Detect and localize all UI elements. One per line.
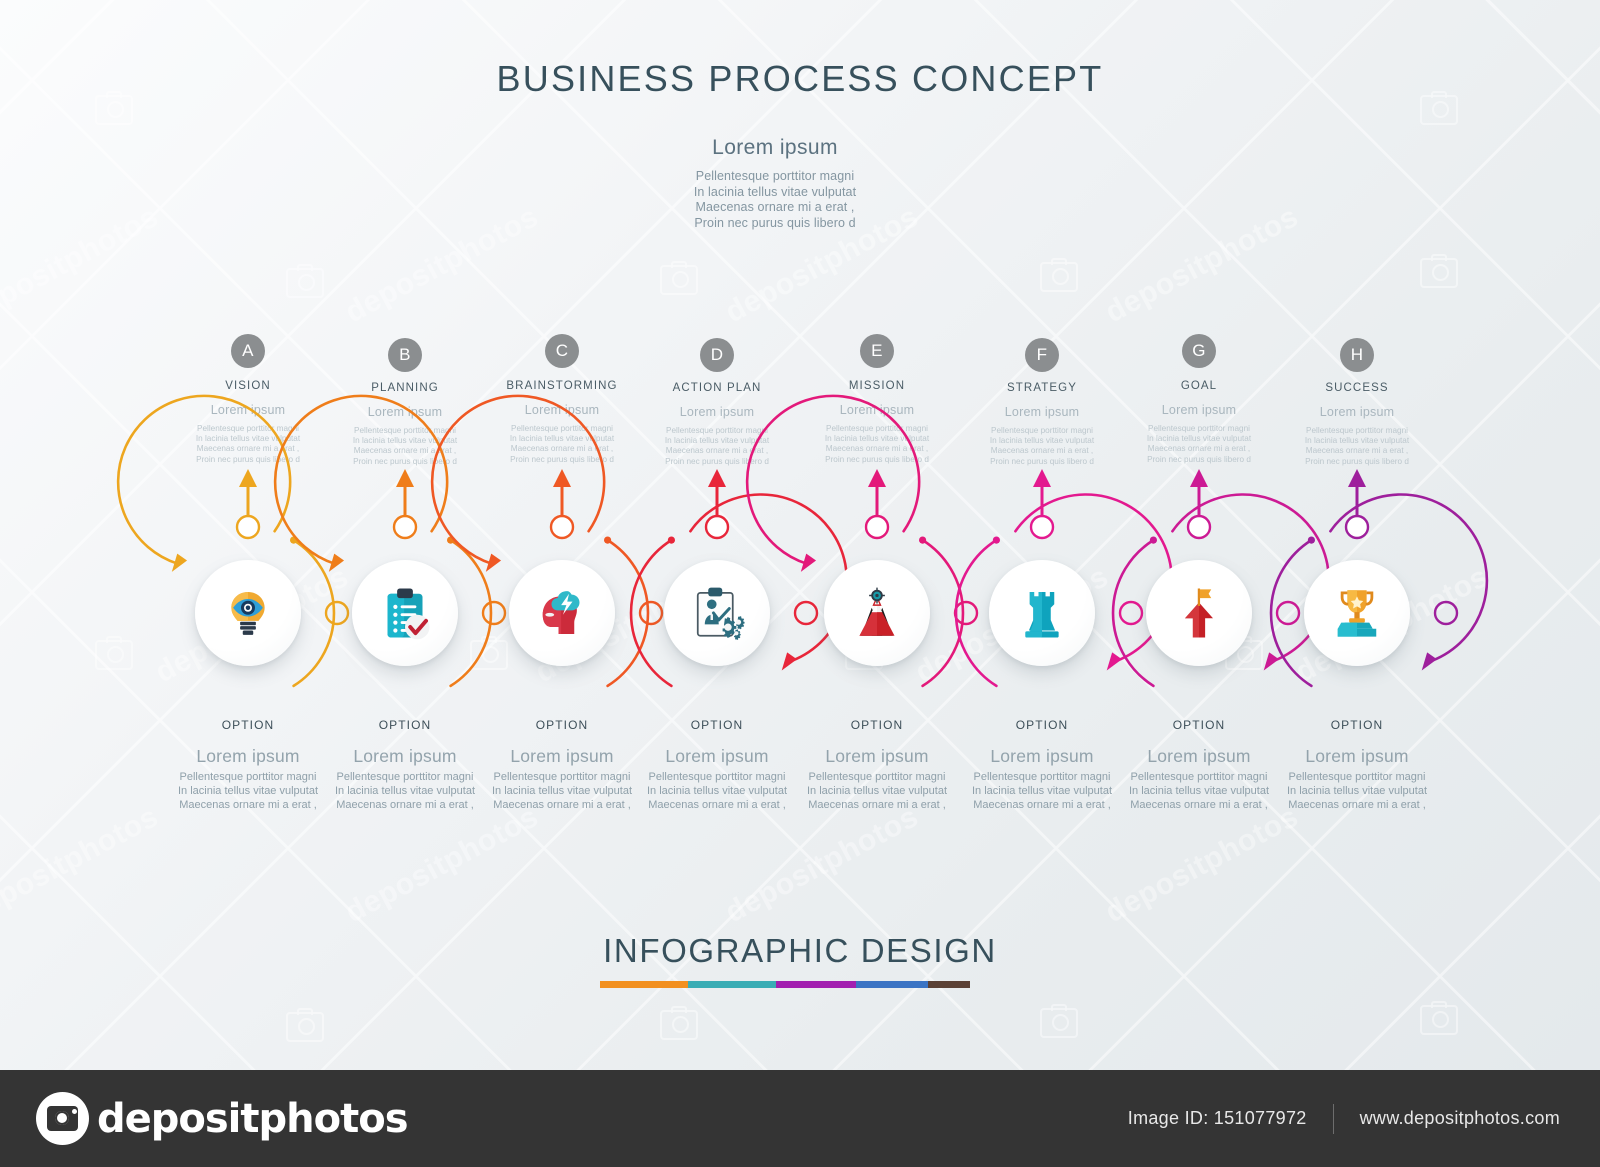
step-badge[interactable]: H — [1340, 338, 1374, 372]
step-bottom-subtitle: Lorem ipsum — [196, 746, 299, 767]
body-line: Pellentesque porttitor magni — [791, 770, 963, 784]
body-line: Maecenas ornare mi a erat , — [1114, 444, 1284, 454]
body-line: In lacinia tellus vitae vulputat — [1113, 784, 1285, 798]
step-disc[interactable] — [664, 560, 770, 666]
step-top-body: Pellentesque porttitor magniIn lacinia t… — [477, 424, 647, 465]
step-top-subtitle: Lorem ipsum — [211, 403, 285, 417]
body-line: In lacinia tellus vitae vulputat — [792, 434, 962, 444]
body-line: Maecenas ornare mi a erat , — [163, 444, 333, 454]
step-disc[interactable] — [824, 560, 930, 666]
step-bottom-body: Pellentesque porttitor magniIn lacinia t… — [791, 770, 963, 812]
infographic-canvas: depositphotosdepositphotosdepositphotosd… — [0, 0, 1600, 1167]
step-bottom-body: Pellentesque porttitor magniIn lacinia t… — [1113, 770, 1285, 812]
depositphotos-logo: depositphotos — [36, 1092, 408, 1145]
step-bottom-body: Pellentesque porttitor magniIn lacinia t… — [319, 770, 491, 812]
color-bar-segment — [600, 981, 688, 988]
body-line: Pellentesque porttitor magni — [1114, 424, 1284, 434]
site-url[interactable]: www.depositphotos.com — [1360, 1108, 1560, 1129]
step-title: PLANNING — [371, 382, 439, 394]
body-line: Pellentesque porttitor magni — [792, 424, 962, 434]
step-option-label: OPTION — [1016, 718, 1069, 732]
step-badge[interactable]: D — [700, 338, 734, 372]
step-disc[interactable] — [1304, 560, 1410, 666]
brand-wordmark: depositphotos — [97, 1096, 408, 1142]
color-bar-segment — [688, 981, 776, 988]
step-top-body: Pellentesque porttitor magniIn lacinia t… — [1272, 426, 1442, 467]
step-badge[interactable]: C — [545, 334, 579, 368]
body-line: Maecenas ornare mi a erat , — [320, 446, 490, 456]
body-line: Maecenas ornare mi a erat , — [319, 798, 491, 812]
body-line: Maecenas ornare mi a erat , — [162, 798, 334, 812]
step-top-body: Pellentesque porttitor magniIn lacinia t… — [632, 426, 802, 467]
footer-color-bar — [600, 981, 970, 988]
body-line: In lacinia tellus vitae vulputat — [957, 436, 1127, 446]
body-line: In lacinia tellus vitae vulputat — [477, 434, 647, 444]
body-line: In lacinia tellus vitae vulputat — [1271, 784, 1443, 798]
body-line: Maecenas ornare mi a erat , — [957, 446, 1127, 456]
body-line: Proin nec purus quis libero d — [632, 457, 802, 467]
watermark-meta: Image ID: 151077972 www.depositphotos.co… — [1128, 1070, 1560, 1167]
step-top-subtitle: Lorem ipsum — [840, 403, 914, 417]
step-top-subtitle: Lorem ipsum — [1162, 403, 1236, 417]
trophy-podium-icon — [1304, 560, 1410, 666]
step-option-label: OPTION — [1173, 718, 1226, 732]
body-line: Proin nec purus quis libero d — [320, 457, 490, 467]
step-option-label: OPTION — [1331, 718, 1384, 732]
step-bottom-subtitle: Lorem ipsum — [665, 746, 768, 767]
step-top-body: Pellentesque porttitor magniIn lacinia t… — [957, 426, 1127, 467]
step-bottom-body: Pellentesque porttitor magniIn lacinia t… — [1271, 770, 1443, 812]
body-line: Proin nec purus quis libero d — [477, 455, 647, 465]
step-badge[interactable]: E — [860, 334, 894, 368]
body-line: Pellentesque porttitor magni — [320, 426, 490, 436]
body-line: In lacinia tellus vitae vulputat — [1114, 434, 1284, 444]
color-bar-segment — [776, 981, 856, 988]
step-badge[interactable]: G — [1182, 334, 1216, 368]
step-circle-group[interactable] — [1237, 493, 1477, 733]
body-line: In lacinia tellus vitae vulputat — [1272, 436, 1442, 446]
body-line: Pellentesque porttitor magni — [956, 770, 1128, 784]
body-line: Proin nec purus quis libero d — [1114, 455, 1284, 465]
step-title: ACTION PLAN — [673, 382, 762, 394]
body-line: In lacinia tellus vitae vulputat — [163, 434, 333, 444]
body-line: Pellentesque porttitor magni — [319, 770, 491, 784]
step-badge[interactable]: F — [1025, 338, 1059, 372]
body-line: Pellentesque porttitor magni — [476, 770, 648, 784]
mountain-target-icon — [824, 560, 930, 666]
body-line: Maecenas ornare mi a erat , — [631, 798, 803, 812]
body-line: In lacinia tellus vitae vulputat — [632, 436, 802, 446]
body-line: Pellentesque porttitor magni — [631, 770, 803, 784]
step-title: VISION — [225, 380, 271, 392]
step-bottom-subtitle: Lorem ipsum — [990, 746, 1093, 767]
step-bottom-subtitle: Lorem ipsum — [1305, 746, 1408, 767]
process-steps: A VISION Lorem ipsum Pellentesque portti… — [0, 0, 1600, 1070]
body-line: Maecenas ornare mi a erat , — [792, 444, 962, 454]
step-top-body: Pellentesque porttitor magniIn lacinia t… — [320, 426, 490, 467]
step-bottom-subtitle: Lorem ipsum — [510, 746, 613, 767]
color-bar-segment — [856, 981, 928, 988]
body-line: Pellentesque porttitor magni — [632, 426, 802, 436]
camera-icon — [36, 1092, 89, 1145]
step-top-body: Pellentesque porttitor magniIn lacinia t… — [1114, 424, 1284, 465]
body-line: Maecenas ornare mi a erat , — [477, 444, 647, 454]
step-title: BRAINSTORMING — [506, 380, 617, 392]
body-line: Pellentesque porttitor magni — [957, 426, 1127, 436]
step-bottom-subtitle: Lorem ipsum — [353, 746, 456, 767]
body-line: In lacinia tellus vitae vulputat — [319, 784, 491, 798]
step-title: MISSION — [849, 380, 905, 392]
body-line: Pellentesque porttitor magni — [1113, 770, 1285, 784]
step-title: STRATEGY — [1007, 382, 1077, 394]
footer-title: INFOGRAPHIC DESIGN — [0, 932, 1600, 970]
clipboard-gears-icon — [664, 560, 770, 666]
body-line: In lacinia tellus vitae vulputat — [162, 784, 334, 798]
step-top-subtitle: Lorem ipsum — [1320, 405, 1394, 419]
body-line: Pellentesque porttitor magni — [162, 770, 334, 784]
step-option-label: OPTION — [691, 718, 744, 732]
step-option-label: OPTION — [536, 718, 589, 732]
body-line: Maecenas ornare mi a erat , — [632, 446, 802, 456]
step-bottom-body: Pellentesque porttitor magniIn lacinia t… — [631, 770, 803, 812]
step-badge[interactable]: A — [231, 334, 265, 368]
step-top-subtitle: Lorem ipsum — [1005, 405, 1079, 419]
body-line: Proin nec purus quis libero d — [1272, 457, 1442, 467]
step-bottom-body: Pellentesque porttitor magniIn lacinia t… — [956, 770, 1128, 812]
body-line: Pellentesque porttitor magni — [163, 424, 333, 434]
body-line: Proin nec purus quis libero d — [163, 455, 333, 465]
color-bar-segment — [928, 981, 970, 988]
step-bottom-body: Pellentesque porttitor magniIn lacinia t… — [476, 770, 648, 812]
body-line: Pellentesque porttitor magni — [1272, 426, 1442, 436]
step-bottom-subtitle: Lorem ipsum — [825, 746, 928, 767]
step-option-label: OPTION — [222, 718, 275, 732]
step-bottom-subtitle: Lorem ipsum — [1147, 746, 1250, 767]
image-id-label: Image ID: 151077972 — [1128, 1108, 1307, 1129]
step-bottom-body: Pellentesque porttitor magniIn lacinia t… — [162, 770, 334, 812]
body-line: Maecenas ornare mi a erat , — [1113, 798, 1285, 812]
camera-flash-dot — [72, 1109, 77, 1114]
step-badge[interactable]: B — [388, 338, 422, 372]
step-top-body: Pellentesque porttitor magniIn lacinia t… — [163, 424, 333, 465]
body-line: Maecenas ornare mi a erat , — [956, 798, 1128, 812]
body-line: In lacinia tellus vitae vulputat — [956, 784, 1128, 798]
divider — [1333, 1104, 1334, 1134]
body-line: In lacinia tellus vitae vulputat — [476, 784, 648, 798]
step-title: GOAL — [1181, 380, 1217, 392]
body-line: Pellentesque porttitor magni — [1271, 770, 1443, 784]
step-option-label: OPTION — [379, 718, 432, 732]
body-line: In lacinia tellus vitae vulputat — [791, 784, 963, 798]
body-line: Proin nec purus quis libero d — [957, 457, 1127, 467]
body-line: Pellentesque porttitor magni — [477, 424, 647, 434]
step-top-subtitle: Lorem ipsum — [680, 405, 754, 419]
step-top-body: Pellentesque porttitor magniIn lacinia t… — [792, 424, 962, 465]
step-top-subtitle: Lorem ipsum — [525, 403, 599, 417]
body-line: Maecenas ornare mi a erat , — [1272, 446, 1442, 456]
body-line: Proin nec purus quis libero d — [792, 455, 962, 465]
step-option-label: OPTION — [851, 718, 904, 732]
stock-watermark-bar: depositphotos Image ID: 151077972 www.de… — [0, 1070, 1600, 1167]
body-line: In lacinia tellus vitae vulputat — [631, 784, 803, 798]
body-line: In lacinia tellus vitae vulputat — [320, 436, 490, 446]
body-line: Maecenas ornare mi a erat , — [1271, 798, 1443, 812]
step-title: SUCCESS — [1325, 382, 1388, 394]
body-line: Maecenas ornare mi a erat , — [476, 798, 648, 812]
body-line: Maecenas ornare mi a erat , — [791, 798, 963, 812]
